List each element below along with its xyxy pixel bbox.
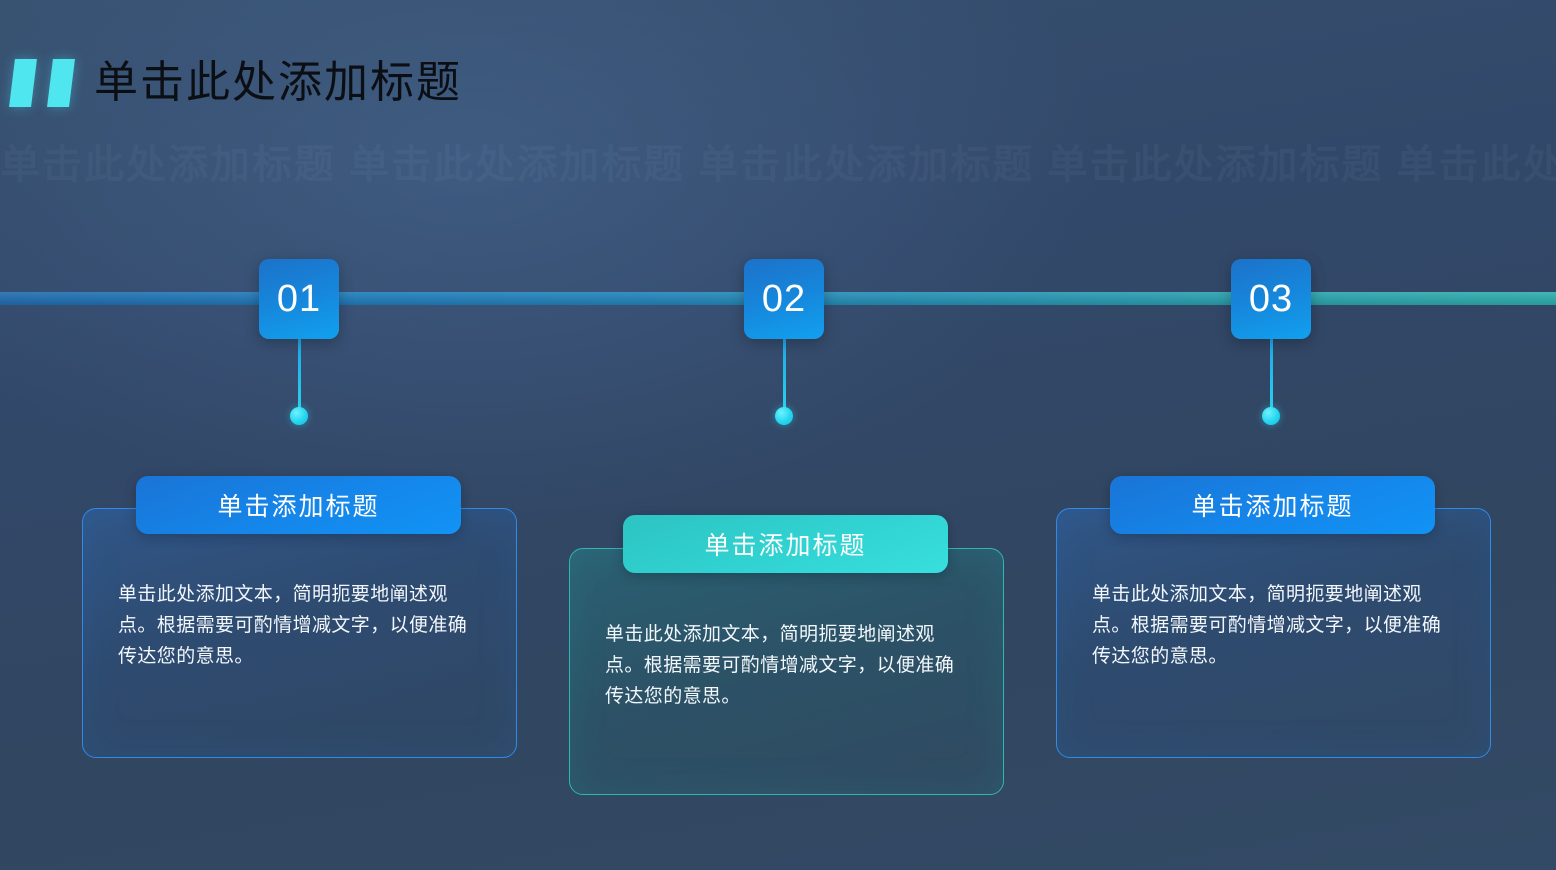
node-number-box[interactable]: 03 <box>1231 259 1311 339</box>
page-title: 单击此处添加标题 <box>94 61 462 105</box>
node-connector-dot-icon <box>1262 407 1280 425</box>
timeline-node-01[interactable]: 01 <box>259 259 339 339</box>
slide-header: 单击此处添加标题 <box>0 48 462 118</box>
node-connector-line <box>783 339 786 415</box>
node-connector-dot-icon <box>775 407 793 425</box>
node-connector-line <box>298 339 301 415</box>
slide-canvas: 单击此处添加标题 单击此处添加标题 单击此处添加标题 单击此处添加标题 单击此处… <box>0 0 1556 870</box>
node-number-box[interactable]: 02 <box>744 259 824 339</box>
node-number-label: 03 <box>1249 278 1293 321</box>
card-1-body-text: 单击此处添加文本，简明扼要地阐述观点。根据需要可酌情增减文字，以便准确传达您的意… <box>118 580 474 672</box>
accent-bar-icon <box>47 59 75 107</box>
card-3-header[interactable]: 单击添加标题 <box>1110 476 1435 534</box>
node-number-label: 01 <box>277 278 321 321</box>
card-3-body-text: 单击此处添加文本，简明扼要地阐述观点。根据需要可酌情增减文字，以便准确传达您的意… <box>1092 580 1448 672</box>
card-1-header[interactable]: 单击添加标题 <box>136 476 461 534</box>
node-connector-dot-icon <box>290 407 308 425</box>
timeline-node-03[interactable]: 03 <box>1231 259 1311 339</box>
accent-bar-icon <box>9 59 37 107</box>
node-number-label: 02 <box>762 278 806 321</box>
card-2-header[interactable]: 单击添加标题 <box>623 515 948 573</box>
card-2-body-text: 单击此处添加文本，简明扼要地阐述观点。根据需要可酌情增减文字，以便准确传达您的意… <box>605 620 961 712</box>
title-accent-bars <box>8 59 72 107</box>
node-connector-line <box>1270 339 1273 415</box>
timeline-node-02[interactable]: 02 <box>744 259 824 339</box>
node-number-box[interactable]: 01 <box>259 259 339 339</box>
background-watermark-text: 单击此处添加标题 单击此处添加标题 单击此处添加标题 单击此处添加标题 单击此处… <box>0 132 1556 198</box>
